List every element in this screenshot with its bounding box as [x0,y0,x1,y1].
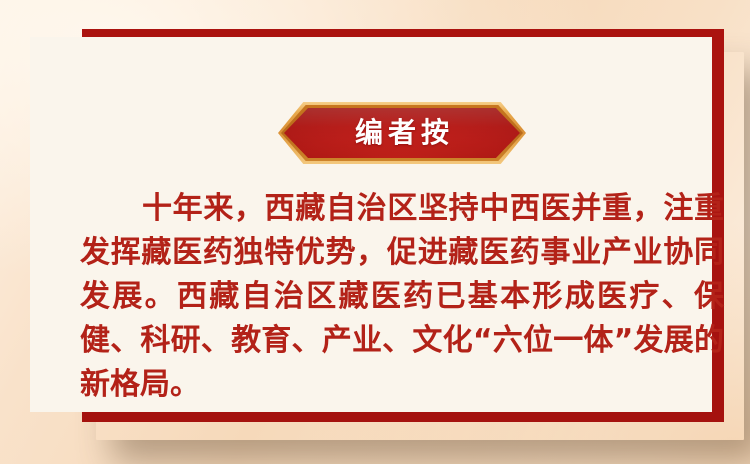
editor-note-badge: 编者按 [278,102,526,164]
editorial-note-card: 编者按 十年来，西藏自治区坚持中西医并重，注重发挥藏医药独特优势，促进藏医药事业… [0,0,750,464]
paper-sheet: 编者按 十年来，西藏自治区坚持中西医并重，注重发挥藏医药独特优势，促进藏医药事业… [30,37,712,412]
badge-label: 编者按 [278,102,526,164]
editorial-body-text: 十年来，西藏自治区坚持中西医并重，注重发挥藏医药独特优势，促进藏医药事业产业协同… [80,187,724,407]
